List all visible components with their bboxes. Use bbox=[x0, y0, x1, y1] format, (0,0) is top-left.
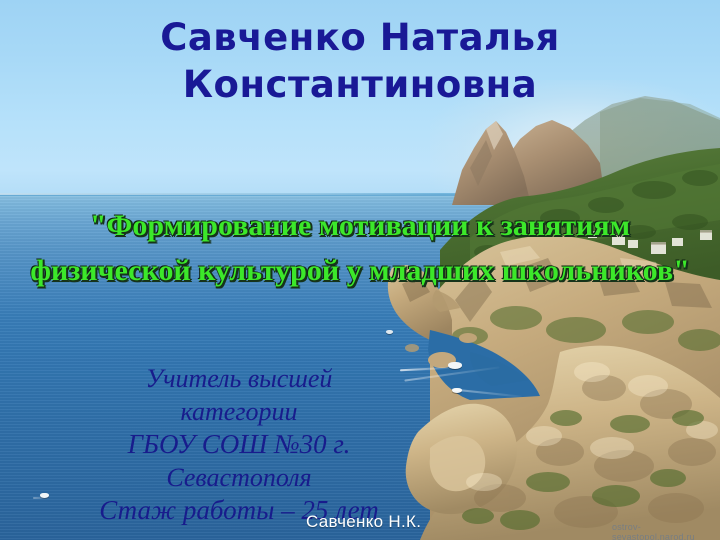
author-signature: Савченко Н.К. bbox=[306, 512, 421, 532]
subtitle-line-2: физической культурой у младших школьнико… bbox=[0, 248, 720, 293]
credits-line-1: Учитель высшей bbox=[0, 362, 478, 395]
subtitle-line-1: "Формирование мотивации к занятиям bbox=[0, 203, 720, 248]
distant-boat bbox=[386, 330, 393, 334]
title-line-1: Савченко Наталья bbox=[0, 14, 720, 61]
credits-line-4: Севастополя bbox=[0, 461, 478, 494]
slide-title: Савченко Наталья Константиновна bbox=[0, 14, 720, 108]
credits-line-2: категории bbox=[0, 395, 478, 428]
slide-credits: Учитель высшей категории ГБОУ СОШ №30 г.… bbox=[0, 362, 478, 527]
source-watermark: ostrov-sevastopol.narod.ru bbox=[612, 522, 720, 540]
slide-subtitle: "Формирование мотивации к занятиям физич… bbox=[0, 203, 720, 293]
presentation-slide: Савченко Наталья Константиновна "Формиро… bbox=[0, 0, 720, 540]
credits-line-3: ГБОУ СОШ №30 г. bbox=[0, 428, 478, 461]
title-line-2: Константиновна bbox=[0, 61, 720, 108]
